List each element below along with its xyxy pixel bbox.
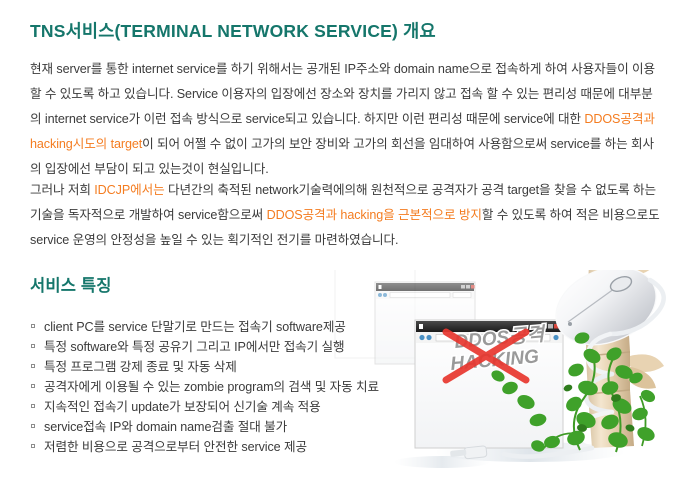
list-item: 저렴한 비용으로 공격으로부터 안전한 service 제공 (30, 437, 410, 457)
bamboo-stalk-icon (586, 270, 664, 448)
paragraph-1-segment-1: 현재 server를 통한 internet service를 하기 위해서는 … (30, 62, 655, 126)
blocked-label-line1: DDOS공격 (454, 323, 548, 353)
page-title: TNS서비스(TERMINAL NETWORK SERVICE) 개요 (30, 18, 436, 43)
list-item-label: 특정 software와 특정 공유기 그리고 IP에서만 접속기 실행 (44, 340, 345, 354)
list-item-label: 공격자에게 이용될 수 있는 zombie program의 검색 및 자동 치… (44, 380, 379, 394)
list-item: service접속 IP와 domain name검출 절대 불가 (30, 417, 410, 437)
paragraph-2-highlight-2: DDOS공격과 hacking을 근본적으로 방지 (267, 208, 482, 222)
square-bullet-icon (31, 424, 35, 428)
square-bullet-icon (31, 344, 35, 348)
blocked-label-line2: HACKING (450, 346, 540, 375)
red-cross-mark (446, 332, 526, 380)
square-bullet-icon (31, 324, 35, 328)
blocked-attack-label: DDOS공격 HACKING (446, 323, 547, 380)
mouse-scroll-wheel (608, 274, 633, 294)
square-bullet-icon (31, 444, 35, 448)
list-item-label: 지속적인 접속기 update가 보장되어 신기술 계속 적용 (44, 400, 321, 414)
usb-cable-icon (504, 280, 664, 457)
overview-paragraph-2: 그러나 저희 IDCJP에서는 다년간의 축적된 network기술력에의해 원… (30, 178, 662, 253)
list-item-label: service접속 IP와 domain name검출 절대 불가 (44, 420, 287, 434)
green-vine-icon (489, 331, 657, 454)
browser-window-front (415, 320, 563, 448)
section-title-features: 서비스 특징 (30, 272, 112, 296)
usb-connector-icon (450, 446, 487, 459)
list-item: client PC를 service 단말기로 만드는 접속기 software… (30, 317, 410, 337)
paragraph-2-highlight-1: IDCJP에서는 (94, 183, 164, 197)
square-bullet-icon (31, 384, 35, 388)
list-item-label: 저렴한 비용으로 공격으로부터 안전한 service 제공 (44, 440, 307, 454)
list-item: 특정 프로그램 강제 종료 및 자동 삭제 (30, 357, 410, 377)
slide-root: DDOS공격 HACKING (0, 0, 680, 500)
mouse-button-split (568, 286, 618, 322)
overview-paragraph-1: 현재 server를 통한 internet service를 하기 위해서는 … (30, 57, 662, 182)
paragraph-2-segment-1: 그러나 저희 (30, 183, 94, 197)
square-bullet-icon (31, 404, 35, 408)
feature-list: client PC를 service 단말기로 만드는 접속기 software… (30, 317, 410, 457)
list-item-label: 특정 프로그램 강제 종료 및 자동 삭제 (44, 360, 237, 374)
ground-shadow (435, 442, 625, 462)
list-item: 특정 software와 특정 공유기 그리고 IP에서만 접속기 실행 (30, 337, 410, 357)
square-bullet-icon (31, 364, 35, 368)
computer-mouse-icon (544, 270, 667, 359)
list-item: 지속적인 접속기 update가 보장되어 신기술 계속 적용 (30, 397, 410, 417)
list-item: 공격자에게 이용될 수 있는 zombie program의 검색 및 자동 치… (30, 377, 410, 397)
ground-shadow-2 (394, 456, 490, 468)
list-item-label: client PC를 service 단말기로 만드는 접속기 software… (44, 320, 346, 334)
